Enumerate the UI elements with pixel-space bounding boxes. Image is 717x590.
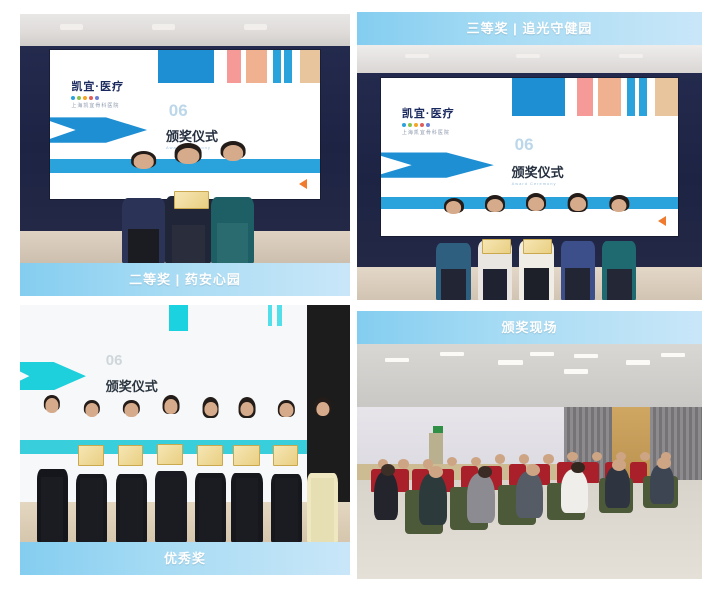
certificate <box>523 239 553 254</box>
audience-member <box>650 464 674 504</box>
photo-panel-bottom-left[interactable]: 06 颁奖仪式 <box>20 305 350 575</box>
deco-bar-1 <box>268 305 272 326</box>
person-awardee-6 <box>271 400 302 542</box>
door <box>429 433 443 464</box>
slide-logo-text: 凯宜·医疗 <box>402 108 455 120</box>
slide-logo: 凯宜·医疗 上海凯宜骨科医院 <box>71 78 124 109</box>
slide-logo-dots <box>71 96 124 100</box>
slide-title-cn: 颁奖仪式 <box>512 165 564 180</box>
deco-bar-2 <box>277 305 281 326</box>
photo-panel-bottom-right[interactable]: 颁奖现场 <box>357 311 702 579</box>
person-awardee-1 <box>478 195 513 300</box>
certificate <box>273 445 299 465</box>
auditorium-ceiling <box>357 344 702 407</box>
audience-member <box>374 471 398 520</box>
photo-panel-top-left[interactable]: 凯宜·医疗 上海凯宜骨科医院 06 颁奖仪式 Award Ceremony <box>20 14 350 296</box>
person-presenter <box>436 198 471 300</box>
person-awardee-4 <box>602 195 637 300</box>
slide-logo-subtitle: 上海凯宜骨科医院 <box>71 102 124 109</box>
slide-arrow-shape <box>50 117 147 142</box>
slide-color-bars <box>512 78 678 116</box>
certificate <box>118 445 144 465</box>
ceiling <box>20 14 350 46</box>
slide-title: 颁奖仪式 Award Ceremony <box>512 162 564 186</box>
audience-member <box>561 469 589 514</box>
person-awardee-2 <box>211 141 254 263</box>
slide-title-en: Award Ceremony <box>512 181 564 186</box>
audience-member <box>419 473 447 525</box>
audience-member <box>467 473 495 522</box>
person-awardee-3 <box>155 395 186 542</box>
certificate <box>157 444 183 465</box>
photo-collage-page: 凯宜·医疗 上海凯宜骨科医院 06 颁奖仪式 Award Ceremony <box>0 0 717 590</box>
slide-logo-text: 凯宜·医疗 <box>71 81 124 93</box>
slide-logo-dots <box>402 123 455 127</box>
slide-color-bars <box>158 50 320 83</box>
photo-image-bottom-right <box>357 344 702 579</box>
slide-number: 06 <box>106 352 123 369</box>
ceiling <box>357 45 702 73</box>
slide-logo: 凯宜·医疗 上海凯宜骨科医院 <box>402 105 455 136</box>
certificate <box>482 239 511 254</box>
person-presenter <box>122 151 165 263</box>
certificate <box>197 445 223 466</box>
photo-image-bottom-left: 06 颁奖仪式 <box>20 305 350 542</box>
person-host-left <box>37 395 68 542</box>
deco-square <box>169 305 189 331</box>
slide-number: 06 <box>169 101 188 121</box>
slide-title: 颁奖仪式 <box>106 376 158 395</box>
slide-number: 06 <box>515 135 534 155</box>
slide-logo-subtitle: 上海凯宜骨科医院 <box>402 129 455 136</box>
person-awardee-2 <box>519 193 554 300</box>
slide-arrow-shape <box>381 152 494 177</box>
person-host-right <box>307 397 338 542</box>
panel-caption-top-left: 二等奖 | 药安心园 <box>20 263 350 296</box>
certificate <box>78 445 104 465</box>
panel-caption-bottom-right: 颁奖现场 <box>357 311 702 344</box>
person-awardee-5 <box>231 397 262 542</box>
photo-image-top-right: 凯宜·医疗 上海凯宜骨科医院 06 颁奖仪式 Award Ceremony <box>357 45 702 300</box>
slide-title-cn: 颁奖仪式 <box>166 129 218 144</box>
audience-member <box>605 466 629 508</box>
photo-panel-top-right[interactable]: 三等奖 | 追光守健园 凯宜·医疗 <box>357 12 702 300</box>
photo-image-top-left: 凯宜·医疗 上海凯宜骨科医院 06 颁奖仪式 Award Ceremony <box>20 14 350 263</box>
person-awardee <box>165 143 211 263</box>
panel-caption-top-right: 三等奖 | 追光守健园 <box>357 12 702 45</box>
person-awardee-1 <box>76 400 107 542</box>
person-awardee-3 <box>561 193 596 300</box>
certificate <box>233 445 259 466</box>
certificate <box>174 191 209 209</box>
slide-play-triangle <box>658 216 666 226</box>
person-awardee-4 <box>195 397 226 542</box>
slide-play-triangle <box>299 179 307 189</box>
audience-member <box>516 471 544 518</box>
exit-sign-icon <box>433 426 443 433</box>
panel-caption-bottom-left: 优秀奖 <box>20 542 350 575</box>
person-awardee-2 <box>116 400 147 542</box>
